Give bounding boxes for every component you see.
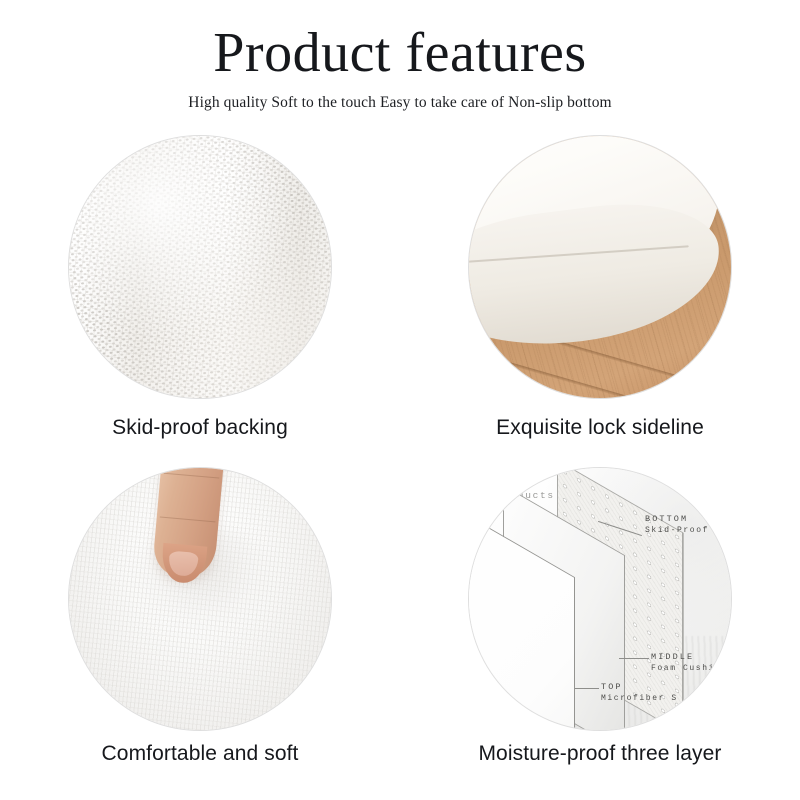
feature-row: Skid-proof backing Exquisite lock s — [0, 133, 800, 466]
layer-position: MIDDLE — [651, 652, 715, 662]
exquisite-lock-sideline-image — [469, 136, 731, 398]
feature-image-wrap — [69, 468, 331, 730]
product-features-page: Product features High quality Soft to th… — [0, 0, 800, 800]
comfortable-and-soft-image — [69, 468, 331, 730]
layer-position: BOTTOM — [645, 514, 709, 524]
leader-line-middle — [619, 658, 649, 659]
moisture-proof-three-layer-image: roducts BOTTOM Skid-Proof MIDDLE — [469, 468, 731, 730]
layer-material: Microfiber S — [601, 694, 678, 703]
layer-label-middle: MIDDLE Foam Cushi — [651, 652, 715, 673]
layer-material: Foam Cushi — [651, 664, 715, 673]
skid-proof-backing-image — [69, 136, 331, 398]
finger-crease — [160, 516, 216, 522]
leader-line-top — [575, 688, 599, 689]
feature-grid: Skid-proof backing Exquisite lock s — [0, 133, 800, 799]
feature-image-wrap — [469, 136, 731, 398]
feature-card-exquisite-lock-sideline: Exquisite lock sideline — [400, 133, 800, 466]
page-subtitle: High quality Soft to the touch Easy to t… — [0, 93, 800, 113]
feature-caption: Skid-proof backing — [0, 414, 400, 441]
mesh-sheen-layer — [69, 136, 331, 398]
feature-image-wrap — [69, 136, 331, 398]
feature-caption: Comfortable and soft — [0, 740, 400, 767]
page-header: Product features High quality Soft to th… — [0, 0, 800, 113]
layer-label-top: TOP Microfiber S — [601, 682, 678, 703]
feature-row: Comfortable and soft roducts — [0, 466, 800, 799]
layer-position: TOP — [601, 682, 678, 692]
feature-card-moisture-proof-three-layer: roducts BOTTOM Skid-Proof MIDDLE — [400, 466, 800, 799]
page-title: Product features — [0, 22, 800, 84]
feature-caption: Moisture-proof three layer — [400, 740, 800, 767]
feature-card-skid-proof-backing: Skid-proof backing — [0, 133, 400, 466]
finger-crease — [164, 473, 220, 479]
layer-material: Skid-Proof — [645, 526, 709, 535]
feature-image-wrap: roducts BOTTOM Skid-Proof MIDDLE — [469, 468, 731, 730]
feature-card-comfortable-and-soft: Comfortable and soft — [0, 466, 400, 799]
layer-label-bottom: BOTTOM Skid-Proof — [645, 514, 709, 535]
feature-caption: Exquisite lock sideline — [400, 414, 800, 441]
